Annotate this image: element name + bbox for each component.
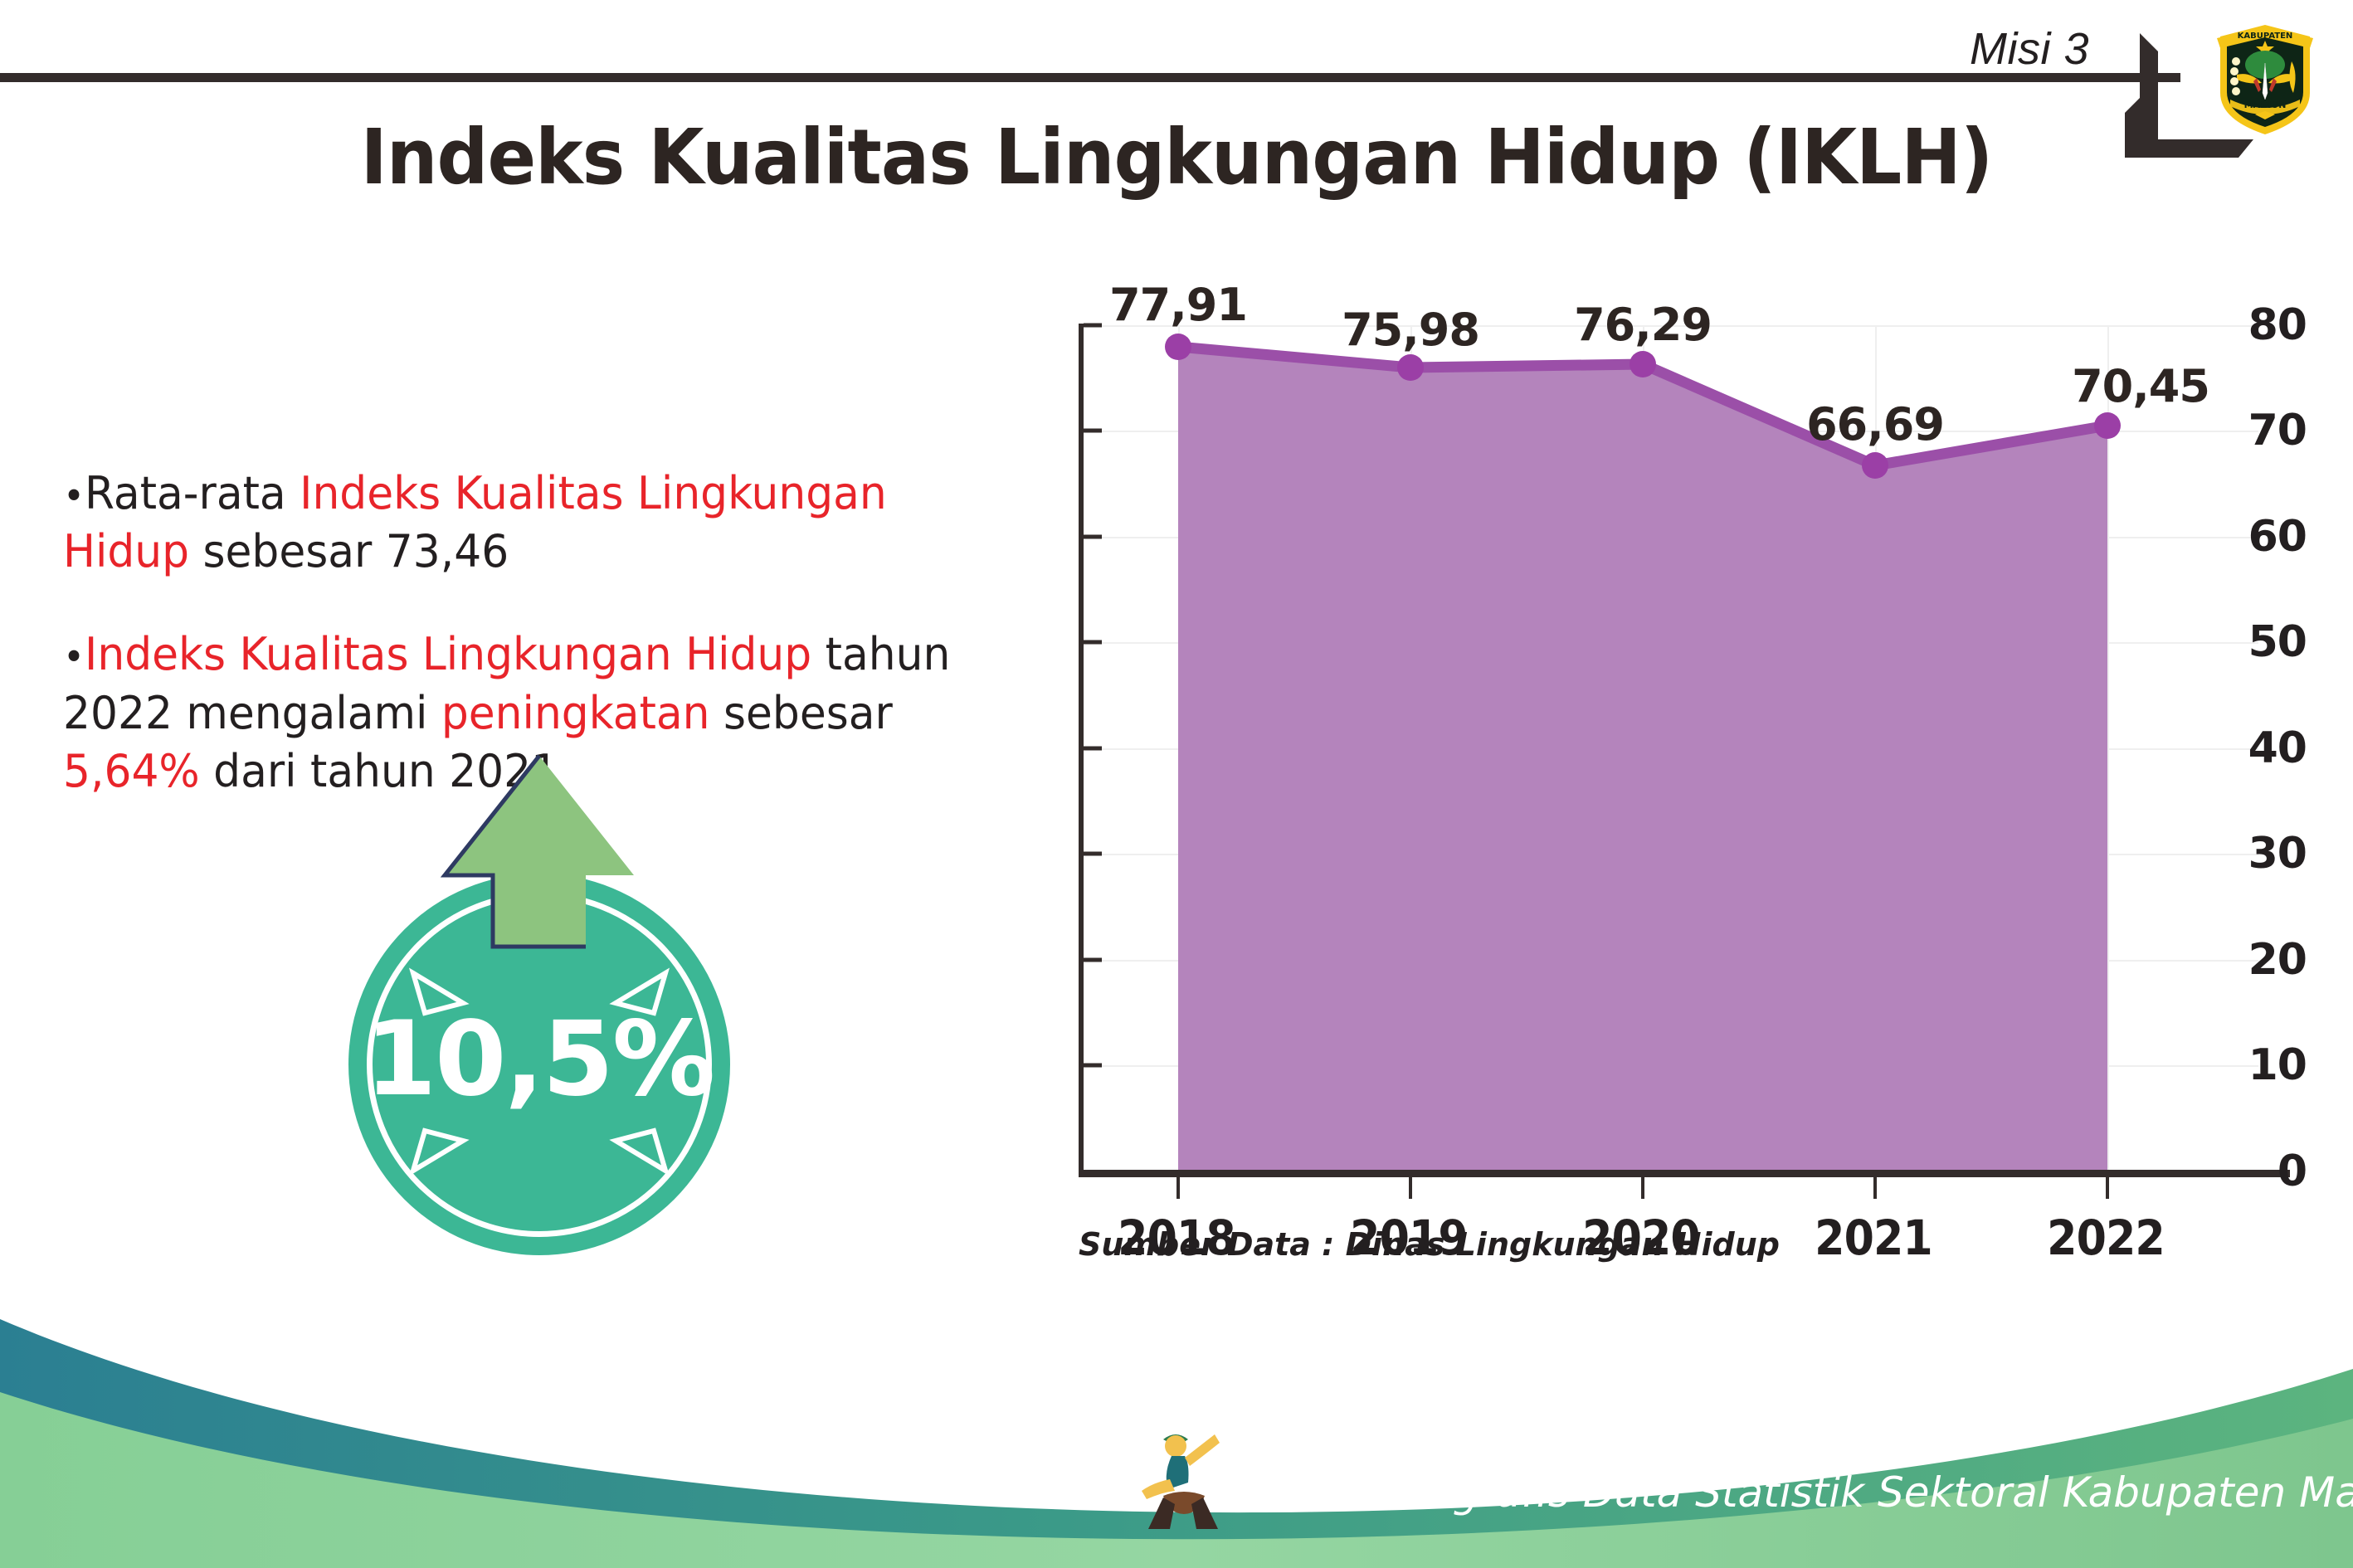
data-label-2020: 76,29	[1543, 299, 1742, 351]
area-series	[1080, 325, 2258, 1171]
plot-area	[1080, 325, 2258, 1171]
y-tick-mark-70	[1084, 429, 1102, 433]
y-tick-mark-50	[1084, 640, 1102, 645]
data-point-2018	[1165, 334, 1191, 360]
data-label-2022: 70,45	[2041, 360, 2240, 412]
data-point-2021	[1862, 452, 1888, 479]
y-tick-label-80: 80	[2217, 300, 2307, 350]
x-tick-mark-2021	[1873, 1177, 1877, 1199]
x-tick-label-2021: 2021	[1791, 1210, 1956, 1266]
x-tick-mark-2022	[2106, 1177, 2109, 1199]
data-point-2020	[1630, 351, 1656, 377]
y-tick-label-40: 40	[2217, 723, 2307, 773]
y-tick-mark-10	[1084, 1064, 1102, 1068]
bullet-2-seg-4: sebesar	[710, 687, 893, 739]
x-tick-mark-2018	[1176, 1177, 1180, 1199]
x-tick-label-2022: 2022	[2024, 1210, 2188, 1266]
y-tick-label-50: 50	[2217, 617, 2307, 667]
y-tick-mark-40	[1084, 747, 1102, 751]
y-tick-mark-20	[1084, 958, 1102, 962]
iklh-area-chart: 80 70 60 50 40 30 20 10 0 2018 2019 2020…	[979, 290, 2307, 1220]
mission-label: Misi 3	[1970, 23, 2089, 75]
badge-value: 10,5%	[348, 1000, 730, 1119]
bullet-1-seg-3: sebesar 73,46	[189, 525, 509, 577]
x-axis-line	[1079, 1170, 2290, 1177]
y-tick-label-20: 20	[2217, 935, 2307, 985]
page-title: Indeks Kualitas Lingkungan Hidup (IKLH)	[71, 113, 2282, 202]
x-tick-mark-2020	[1641, 1177, 1644, 1199]
y-tick-label-30: 30	[2217, 829, 2307, 879]
media-infografis-logo-icon	[1138, 1424, 1230, 1536]
y-tick-mark-30	[1084, 852, 1102, 856]
y-tick-label-60: 60	[2217, 512, 2307, 562]
data-point-2022	[2094, 412, 2121, 439]
source-note: Sumber Data : Dinas Lingkungan Hidup	[1079, 1226, 1780, 1263]
bullet-2-seg-3: peningkatan	[441, 687, 710, 739]
bullet-2-seg-1: Indeks Kualitas Lingkungan Hidup	[85, 628, 811, 680]
infographic-slide: Misi 3 KABUPATEN MADIUN Indeks Kualitas …	[0, 0, 2353, 1568]
y-tick-label-0: 0	[2217, 1147, 2307, 1196]
y-tick-mark-60	[1084, 535, 1102, 539]
bullet-item-1: •Rata-rata Indeks Kualitas Lingkungan Hi…	[63, 465, 955, 581]
bullet-marker: •	[63, 473, 85, 518]
emblem-top-label: KABUPATEN	[2238, 32, 2293, 41]
data-label-2019: 75,98	[1311, 304, 1510, 356]
header-divider	[0, 73, 2180, 82]
x-tick-mark-2019	[1409, 1177, 1412, 1199]
increase-badge: 10,5%	[324, 751, 755, 1203]
y-tick-label-10: 10	[2217, 1040, 2307, 1090]
emblem-bottom-label: MADIUN	[2244, 100, 2287, 110]
bullet-2-seg-5: 5,64%	[63, 745, 200, 797]
y-tick-label-70: 70	[2217, 406, 2307, 455]
bullet-1-seg-1: Rata-rata	[85, 467, 300, 519]
bullet-marker: •	[63, 635, 85, 679]
data-point-2019	[1397, 354, 1424, 381]
data-label-2018: 77,91	[1079, 279, 1278, 331]
footer-caption: Media Infografis Data Statistik Sektoral…	[1236, 1468, 2353, 1517]
data-label-2021: 66,69	[1776, 398, 1975, 450]
